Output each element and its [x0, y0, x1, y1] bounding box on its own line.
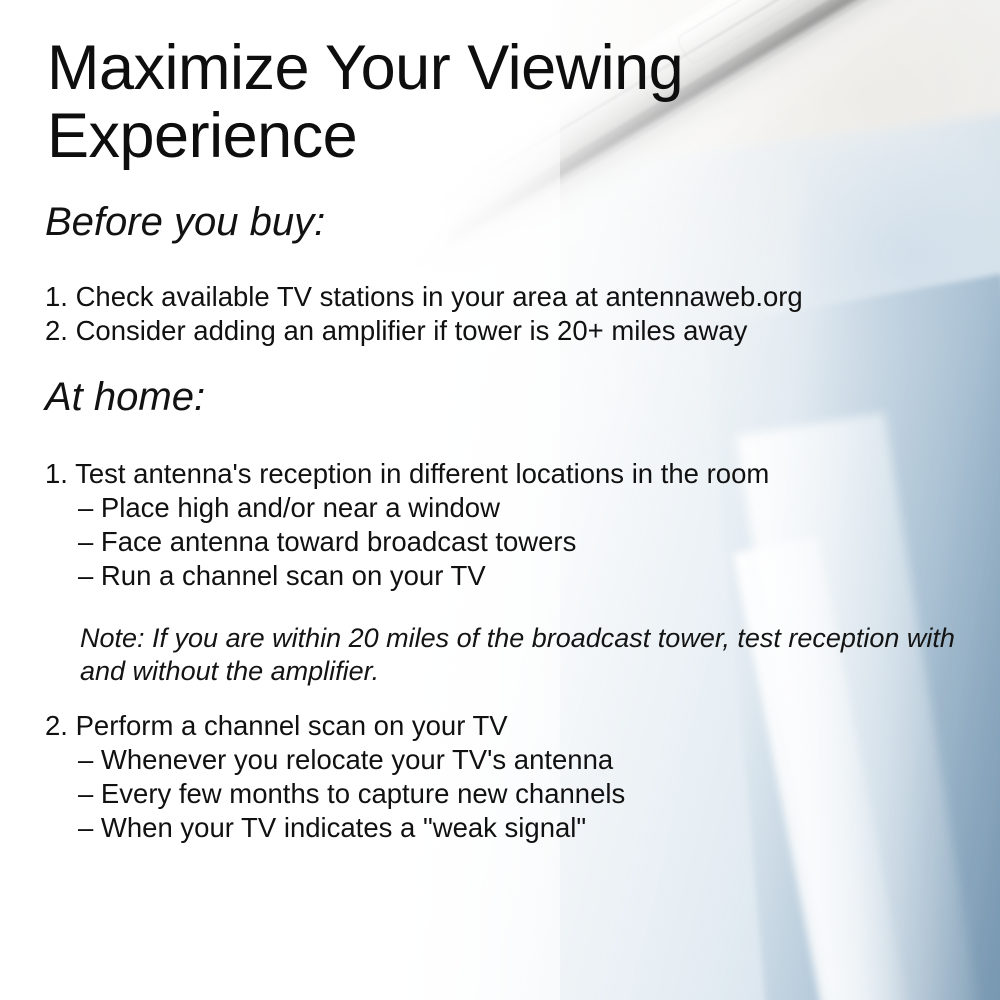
list-item: – When your TV indicates a "weak signal"	[45, 811, 995, 845]
at-home-step-two-list: 2. Perform a channel scan on your TV – W…	[45, 709, 995, 845]
poster-canvas: Maximize Your Viewing Experience Before …	[0, 0, 1000, 1000]
page-title: Maximize Your Viewing Experience	[47, 34, 927, 170]
list-item: – Every few months to capture new channe…	[45, 777, 995, 811]
list-item: – Run a channel scan on your TV	[45, 559, 995, 593]
list-item: – Face antenna toward broadcast towers	[45, 525, 995, 559]
section-heading-before-you-buy: Before you buy:	[45, 200, 325, 244]
before-you-buy-list: 1. Check available TV stations in your a…	[45, 280, 995, 348]
section-heading-at-home: At home:	[45, 375, 205, 419]
list-item: 2. Consider adding an amplifier if tower…	[45, 314, 995, 348]
list-item: – Whenever you relocate your TV's antenn…	[45, 743, 995, 777]
at-home-step-one-list: 1. Test antenna's reception in different…	[45, 457, 995, 593]
poster-content: Maximize Your Viewing Experience Before …	[0, 0, 1000, 1000]
list-item: – Place high and/or near a window	[45, 491, 995, 525]
list-item: 2. Perform a channel scan on your TV	[45, 709, 995, 743]
list-item: 1. Test antenna's reception in different…	[45, 457, 995, 491]
list-item: 1. Check available TV stations in your a…	[45, 280, 995, 314]
amplifier-note: Note: If you are within 20 miles of the …	[80, 622, 960, 688]
